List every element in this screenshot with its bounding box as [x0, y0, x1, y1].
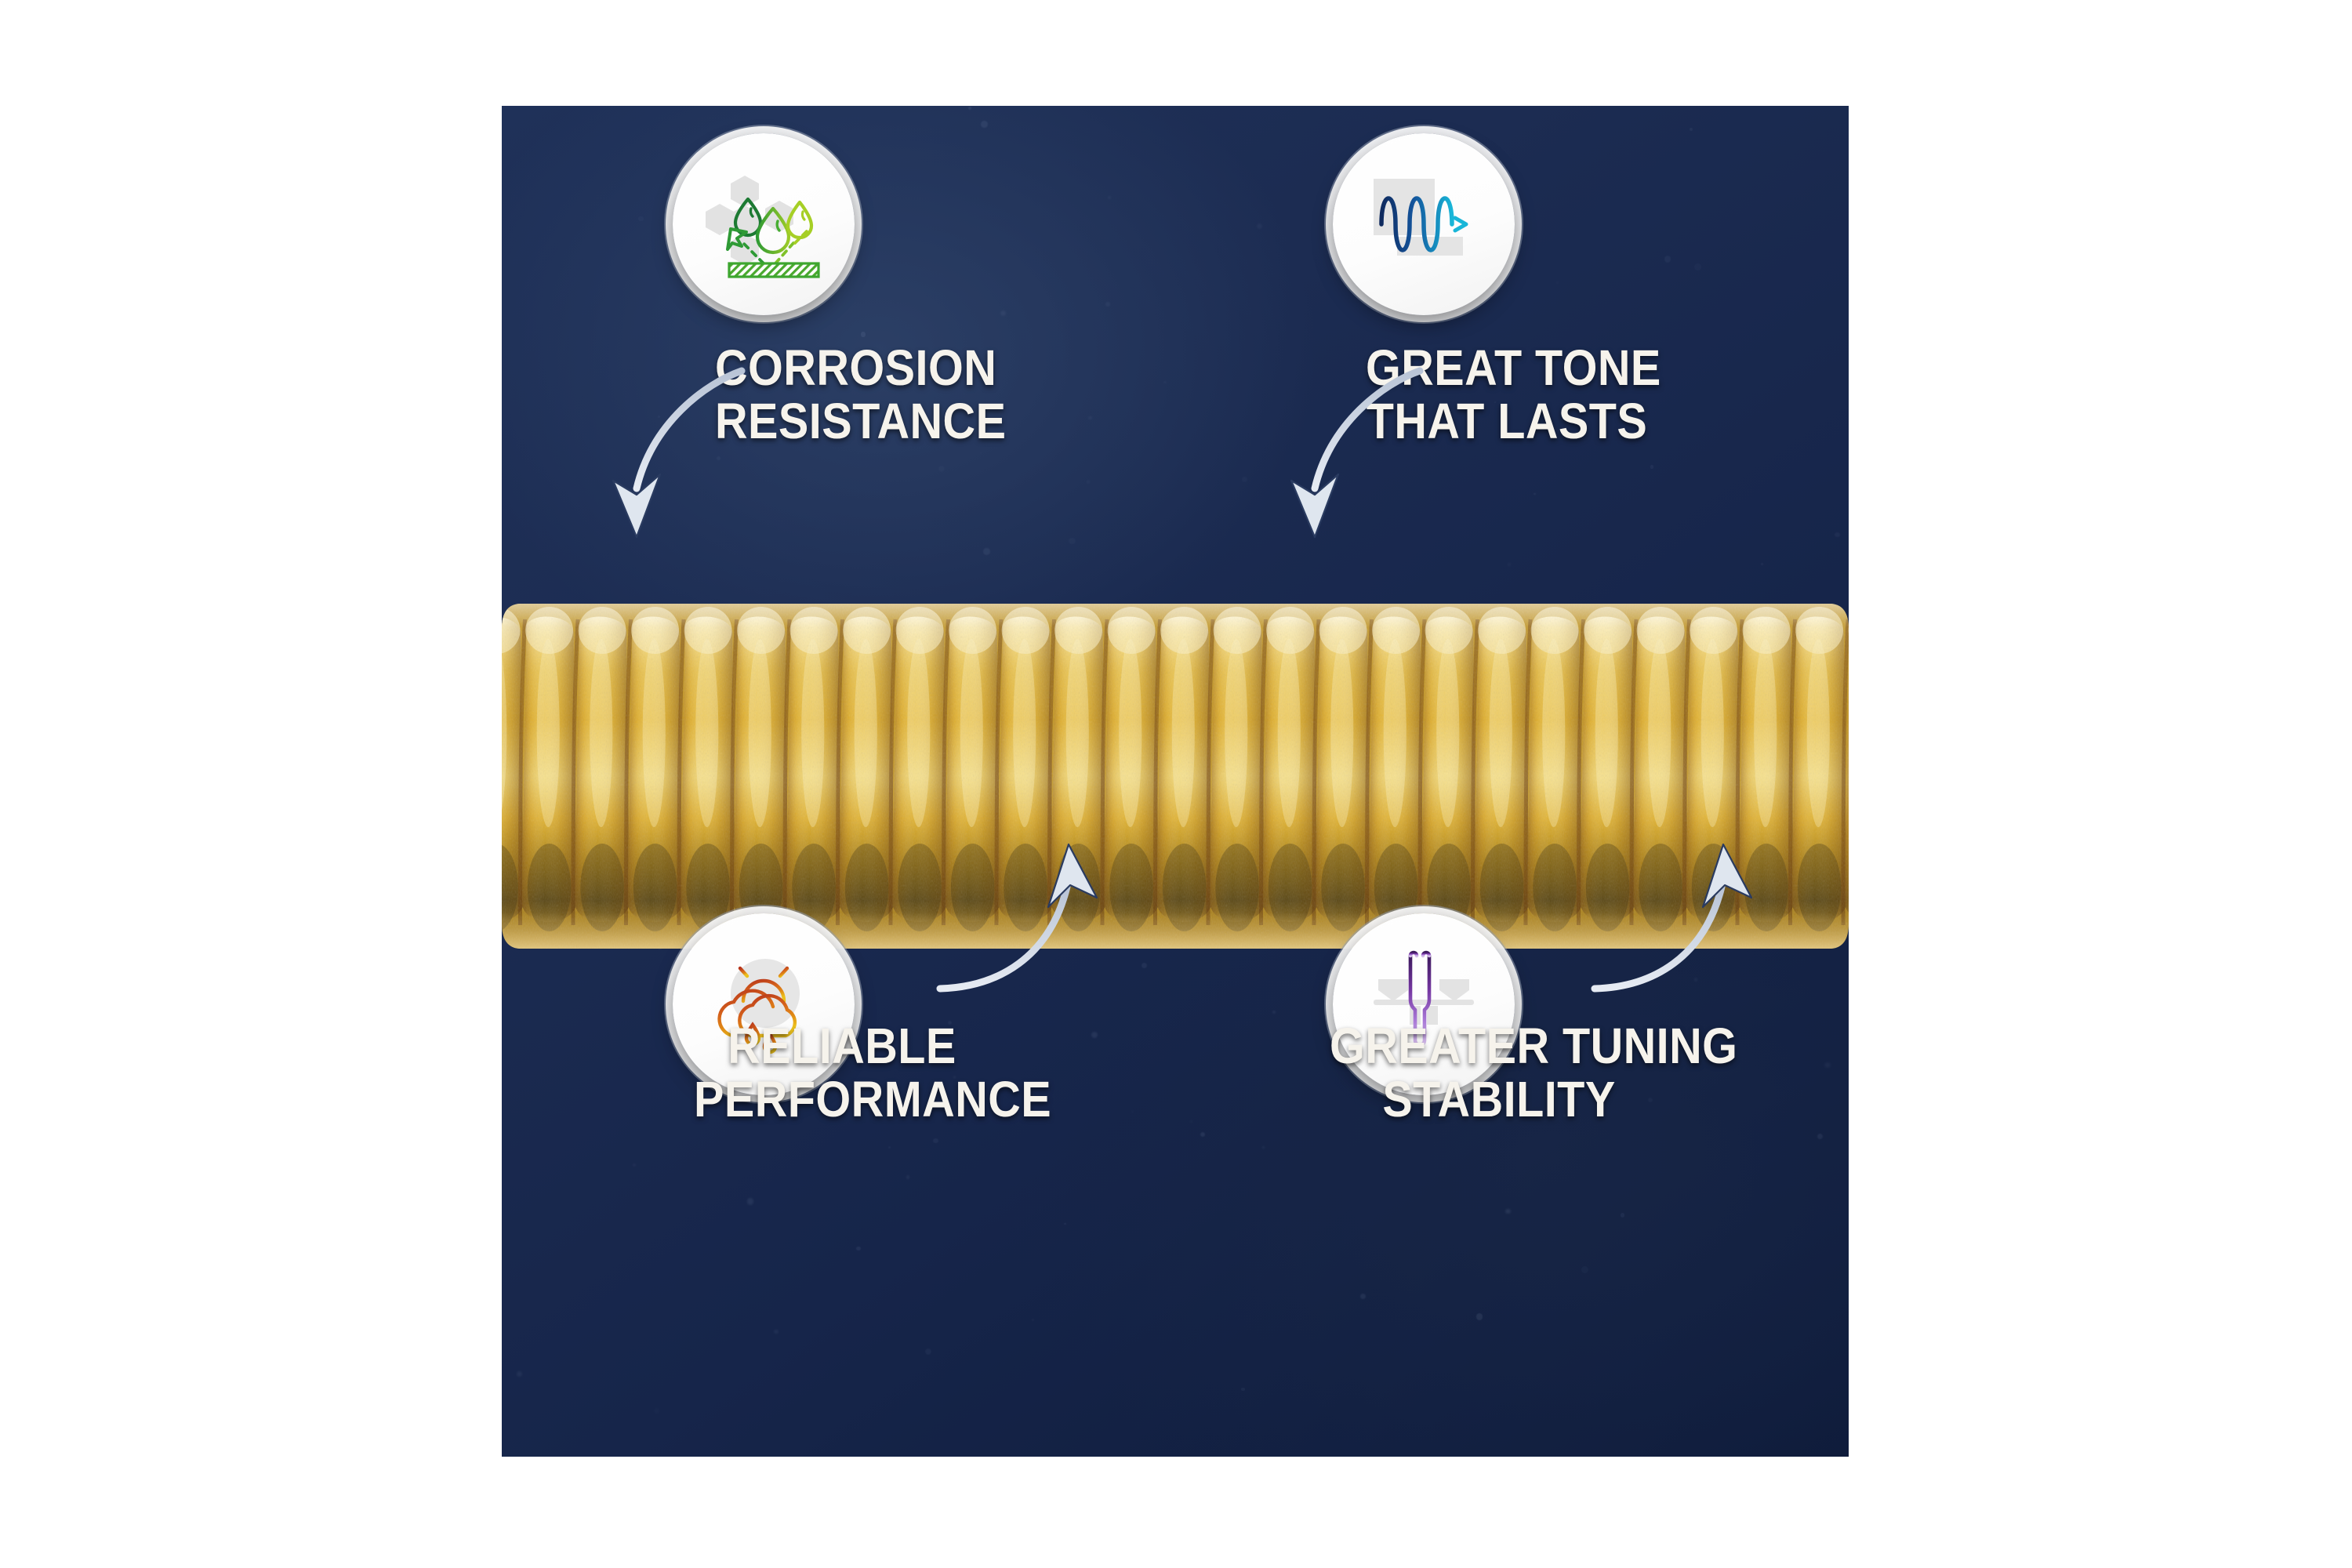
feature-icon-corrosion-resistance — [673, 133, 855, 315]
caption-line-1: CORROSION — [715, 341, 969, 394]
feature-caption-reliable-performance: RELIABLE PERFORMANCE — [694, 1019, 990, 1127]
caption-line-2: PERFORMANCE — [694, 1073, 990, 1126]
feature-icon-great-tone — [1333, 133, 1515, 315]
feature-panel: CORROSION RESISTANCE — [502, 106, 1849, 1457]
caption-line-1: GREATER TUNING — [1330, 1019, 1668, 1073]
caption-line-2: STABILITY — [1330, 1073, 1668, 1126]
caption-line-1: RELIABLE — [694, 1019, 990, 1073]
feature-caption-great-tone: GREAT TONE THAT LASTS — [1366, 341, 1648, 448]
gold-string-coil-image — [502, 596, 1849, 956]
feature-caption-corrosion-resistance: CORROSION RESISTANCE — [715, 341, 969, 448]
caption-line-2: THAT LASTS — [1366, 394, 1648, 448]
caption-line-1: GREAT TONE — [1366, 341, 1648, 394]
water-droplets-hexagon-coating-icon — [701, 162, 826, 287]
feature-caption-tuning-stability: GREATER TUNING STABILITY — [1330, 1019, 1668, 1127]
caption-line-2: RESISTANCE — [715, 394, 969, 448]
coated-surface-bar — [729, 263, 818, 277]
block-decoration — [1374, 179, 1463, 256]
infographic-canvas: CORROSION RESISTANCE — [0, 0, 2352, 1568]
sine-waveform-arrow-icon — [1361, 162, 1486, 287]
